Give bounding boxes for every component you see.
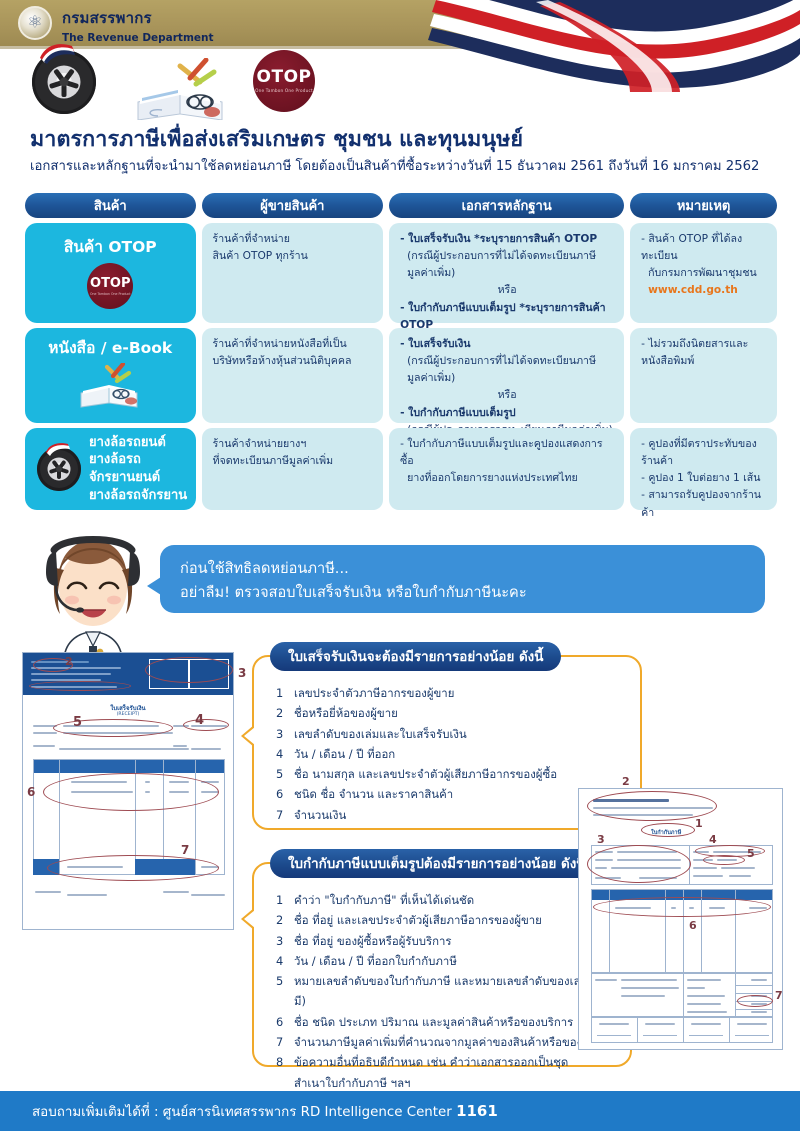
product-label: สินค้า OTOP (64, 237, 157, 258)
bubble-line-1: ก่อนใช้สิทธิลดหย่อนภาษี... (180, 557, 745, 581)
seller-line: ร้านค้าจำหน่ายยางฯ (213, 436, 374, 453)
list-item: 3ชื่อ ที่อยู่ ของผู้ซื้อหรือผู้รับบริการ (276, 931, 618, 951)
product-cell-book: หนังสือ / e-Book (25, 328, 196, 423)
receipt-callout-4: 4 (195, 713, 204, 728)
otop-logo-subtext: One Tambon One Product (255, 88, 313, 93)
item-text: คำว่า "ใบกำกับภาษี" ที่เห็นได้เด่นชัด (294, 890, 618, 910)
item-number: 4 (276, 744, 287, 764)
eligibility-table: สินค้า ผู้ขายสินค้า เอกสารหลักฐาน หมายเห… (25, 193, 777, 510)
column-header-documents: เอกสารหลักฐาน (389, 193, 624, 218)
item-text: ชื่อ นามสกุล และเลขประจำตัวผู้เสียภาษีอา… (294, 764, 628, 784)
header-title-group: กรมสรรพากร The Revenue Department (62, 6, 214, 44)
list-item: 7จำนวนภาษีมูลค่าเพิ่มที่คำนวณจากมูลค่าขอ… (276, 1032, 618, 1052)
seller-cell: ร้านค้าที่จำหน่ายหนังสือที่เป็น บริษัทหร… (202, 328, 384, 423)
item-text: วัน / เดือน / ปี ที่ออก (294, 744, 628, 764)
item-text-line2: สำเนาใบกำกับภาษี ฯลฯ (294, 1073, 618, 1093)
note-line: - คูปองที่มีตราประทับของร้านค้า (641, 436, 767, 470)
list-item: 1คำว่า "ใบกำกับภาษี" ที่เห็นได้เด่นชัด (276, 890, 618, 910)
list-item: 2ชื่อหรือยี่ห้อของผู้ขาย (276, 703, 628, 723)
receipt-callout-3: 3 (238, 666, 246, 680)
invoice-requirements-list: 1คำว่า "ใบกำกับภาษี" ที่เห็นได้เด่นชัด 2… (254, 890, 630, 1093)
list-item: 5หมายเลขลำดับของใบกำกับภาษี และหมายเลขลำ… (276, 971, 618, 1012)
org-name-english: The Revenue Department (62, 32, 214, 44)
item-text: หมายเลขลำดับของใบกำกับภาษี และหมายเลขลำด… (294, 971, 618, 1012)
receipt-sample-image: ใบเสร็จรับเงิน (RECEIPT) 2 5 4 6 7 (22, 652, 234, 930)
item-number: 2 (276, 910, 287, 930)
seller-line: ร้านค้าที่จำหน่ายหนังสือที่เป็น (213, 336, 374, 353)
otop-badge-text: OTOP (90, 277, 131, 290)
document-note: (กรณีผู้ประกอบการที่ไม่ได้จดทะเบียนภาษีม… (400, 353, 614, 387)
receipt-panel-title: ใบเสร็จรับเงินจะต้องมีรายการอย่างน้อย ดั… (270, 642, 561, 671)
note-line: - คูปอง 1 ใบต่อยาง 1 เส้น (641, 470, 767, 487)
documents-cell: - ใบเสร็จรับเงิน *ระบุรายการสินค้า OTOP … (389, 223, 624, 323)
column-header-product: สินค้า (25, 193, 196, 218)
seller-cell: ร้านค้าจำหน่ายยางฯ ที่จดทะเบียนภาษีมูลค่… (202, 428, 384, 510)
item-number: 5 (276, 971, 287, 1012)
item-number: 2 (276, 703, 287, 723)
notes-cell: - ไม่รวมถึงนิตยสารและหนังสือพิมพ์ (630, 328, 777, 423)
otop-logo-icon: OTOP One Tambon One Product (253, 50, 315, 112)
footer-contact-text: สอบถามเพิ่มเติมได้ที่ : ศูนย์สารนิเทศสรร… (0, 1101, 498, 1122)
tax-invoice-sample-image: ใบกำกับภาษี (578, 788, 783, 1050)
note-line: กับกรมการพัฒนาชุมชน (641, 265, 767, 282)
tax-invoice-requirements-panel: ใบกำกับภาษีแบบเต็มรูปต้องมีรายการอย่างน้… (252, 862, 632, 1067)
table-row: หนังสือ / e-Book ร้านค้าที่จำหน (25, 328, 777, 423)
item-number: 3 (276, 724, 287, 744)
item-number: 6 (276, 784, 287, 804)
document-line: - ใบกำกับภาษีแบบเต็มรูป (400, 405, 614, 422)
seller-line: สินค้า OTOP ทุกร้าน (213, 248, 374, 265)
product-label: ยางล้อรถยนต์ ยางล้อรถจักรยานยนต์ ยางล้อร… (89, 434, 192, 504)
item-number: 4 (276, 951, 287, 971)
seller-line: ที่จดทะเบียนภาษีมูลค่าเพิ่ม (213, 453, 374, 470)
note-line: - สินค้า OTOP ที่ได้ลงทะเบียน (641, 231, 767, 265)
item-number: 7 (276, 1032, 287, 1052)
list-item: 4วัน / เดือน / ปี ที่ออก (276, 744, 628, 764)
receipt-callout-5: 5 (73, 715, 82, 730)
table-header-row: สินค้า ผู้ขายสินค้า เอกสารหลักฐาน หมายเห… (25, 193, 777, 218)
product-cell-otop: สินค้า OTOP OTOP One Tambon One Product (25, 223, 196, 323)
column-header-notes: หมายเหตุ (630, 193, 777, 218)
seller-line: ร้านค้าที่จำหน่าย (213, 231, 374, 248)
mascot-speech-bubble: ก่อนใช้สิทธิลดหย่อนภาษี... อย่าลืม! ตรวจ… (160, 545, 765, 613)
document-line: - ใบเสร็จรับเงิน *ระบุรายการสินค้า OTOP (400, 231, 614, 248)
list-item: 6ชนิด ชื่อ จำนวน และราคาสินค้า (276, 784, 628, 804)
note-line: - ไม่รวมถึงนิตยสารและหนังสือพิมพ์ (641, 336, 767, 370)
document-line: - ใบเสร็จรับเงิน (400, 336, 614, 353)
product-line: ยางล้อรถจักรยานยนต์ (89, 451, 192, 486)
item-number: 8 (276, 1052, 287, 1093)
item-text-line1: ข้อความอื่นที่อธิบดีกำหนด เช่น คำว่าเอกส… (294, 1055, 568, 1069)
cdd-website-link[interactable]: www.cdd.go.th (641, 282, 767, 299)
document-or: หรือ (400, 282, 614, 299)
otop-badge-subtext: One Tambon One Product (90, 292, 131, 296)
callout-pointer-left (241, 908, 254, 930)
seller-line: บริษัทหรือห้างหุ้นส่วนนิติบุคคล (213, 353, 374, 370)
invoice-callout-4: 4 (709, 833, 717, 846)
notes-cell: - สินค้า OTOP ที่ได้ลงทะเบียน กับกรมการพ… (630, 223, 777, 323)
item-number: 1 (276, 683, 287, 703)
item-number: 3 (276, 931, 287, 951)
item-text: ชื่อ ชนิด ประเภท ปริมาณ และมูลค่าสินค้าห… (294, 1012, 618, 1032)
list-item: 8 ข้อความอื่นที่อธิบดีกำหนด เช่น คำว่าเอ… (276, 1052, 618, 1093)
top-icon-strip: OTOP One Tambon One Product (0, 44, 800, 120)
product-label: หนังสือ / e-Book (48, 338, 172, 359)
document-note: (กรณีผู้ประกอบการที่ไม่ได้จดทะเบียนภาษีม… (400, 248, 614, 282)
receipt-callout-6: 6 (27, 785, 35, 799)
item-text: ชื่อ ที่อยู่ และเลขประจำตัวผู้เสียภาษีอา… (294, 910, 618, 930)
note-line: - สามารถรับคูปองจากร้านค้า (641, 487, 767, 521)
item-number: 5 (276, 764, 287, 784)
list-item: 2ชื่อ ที่อยู่ และเลขประจำตัวผู้เสียภาษีอ… (276, 910, 618, 930)
list-item: 6ชื่อ ชนิด ประเภท ปริมาณ และมูลค่าสินค้า… (276, 1012, 618, 1032)
list-item: 3เลขลำดับของเล่มและใบเสร็จรับเงิน (276, 724, 628, 744)
item-text: จำนวนภาษีมูลค่าเพิ่มที่คำนวณจากมูลค่าของ… (294, 1032, 618, 1052)
tire-icon (37, 447, 81, 491)
otop-logo-text: OTOP (257, 69, 312, 86)
item-text: วัน / เดือน / ปี ที่ออกใบกำกับภาษี (294, 951, 618, 971)
list-item: 5ชื่อ นามสกุล และเลขประจำตัวผู้เสียภาษีอ… (276, 764, 628, 784)
invoice-callout-7: 7 (775, 989, 783, 1002)
item-text: เลขประจำตัวภาษีอากรของผู้ขาย (294, 683, 628, 703)
documents-cell: - ใบกำกับภาษีแบบเต็มรูปและคูปองแสดงการซื… (389, 428, 624, 510)
product-line: ยางล้อรถยนต์ (89, 434, 192, 452)
item-number: 1 (276, 890, 287, 910)
invoice-callout-3: 3 (597, 833, 605, 846)
page-subtitle: เอกสารและหลักฐานที่จะนำมาใช้ลดหย่อนภาษี … (30, 155, 775, 176)
notes-cell: - คูปองที่มีตราประทับของร้านค้า - คูปอง … (630, 428, 777, 510)
item-text: ชื่อหรือยี่ห้อของผู้ขาย (294, 703, 628, 723)
document-or: หรือ (400, 387, 614, 404)
document-line: - ใบกำกับภาษีแบบเต็มรูปและคูปองแสดงการซื… (400, 436, 614, 470)
open-book-icon (75, 363, 145, 413)
item-text: เลขลำดับของเล่มและใบเสร็จรับเงิน (294, 724, 628, 744)
product-cell-tires: ยางล้อรถยนต์ ยางล้อรถจักรยานยนต์ ยางล้อร… (25, 428, 196, 510)
flag-ribbon-icon (38, 42, 72, 62)
column-header-seller: ผู้ขายสินค้า (202, 193, 384, 218)
table-row: ยางล้อรถยนต์ ยางล้อรถจักรยานยนต์ ยางล้อร… (25, 428, 777, 510)
open-book-with-glasses-icon (128, 58, 238, 124)
footer-label: สอบถามเพิ่มเติมได้ที่ : ศูนย์สารนิเทศสรร… (32, 1105, 456, 1120)
receipt-callout-2: 2 (65, 655, 73, 668)
invoice-callout-2: 2 (622, 775, 630, 788)
receipt-callout-7: 7 (181, 843, 189, 857)
item-number: 7 (276, 805, 287, 825)
footer-bar: สอบถามเพิ่มเติมได้ที่ : ศูนย์สารนิเทศสรร… (0, 1091, 800, 1131)
otop-logo-icon: OTOP One Tambon One Product (87, 263, 133, 309)
page-title: มาตรการภาษีเพื่อส่งเสริมเกษตร ชุมชน และท… (30, 122, 770, 156)
list-item: 4วัน / เดือน / ปี ที่ออกใบกำกับภาษี (276, 951, 618, 971)
hotline-number: 1161 (456, 1102, 498, 1120)
document-line: ยางที่ออกโดยการยางแห่งประเทศไทย (400, 470, 614, 487)
bubble-line-2: อย่าลืม! ตรวจสอบใบเสร็จรับเงิน หรือใบกำก… (180, 581, 745, 605)
invoice-callout-6: 6 (689, 919, 697, 932)
item-text: ข้อความอื่นที่อธิบดีกำหนด เช่น คำว่าเอกส… (294, 1052, 618, 1093)
seller-cell: ร้านค้าที่จำหน่าย สินค้า OTOP ทุกร้าน (202, 223, 384, 323)
invoice-panel-title: ใบกำกับภาษีแบบเต็มรูปต้องมีรายการอย่างน้… (270, 849, 603, 878)
list-item: 1เลขประจำตัวภาษีอากรของผู้ขาย (276, 683, 628, 703)
org-name-thai: กรมสรรพากร (62, 6, 214, 30)
table-row: สินค้า OTOP OTOP One Tambon One Product … (25, 223, 777, 323)
item-text: ชื่อ ที่อยู่ ของผู้ซื้อหรือผู้รับบริการ (294, 931, 618, 951)
documents-cell: - ใบเสร็จรับเงิน (กรณีผู้ประกอบการที่ไม่… (389, 328, 624, 423)
callout-pointer-left (241, 725, 254, 747)
item-number: 6 (276, 1012, 287, 1032)
product-line: ยางล้อรถจักรยาน (89, 487, 192, 505)
garuda-emblem-icon: ⚛ (18, 6, 52, 40)
invoice-callout-5: 5 (747, 847, 755, 860)
list-item: 7จำนวนเงิน (276, 805, 628, 825)
invoice-callout-1: 1 (695, 817, 703, 830)
